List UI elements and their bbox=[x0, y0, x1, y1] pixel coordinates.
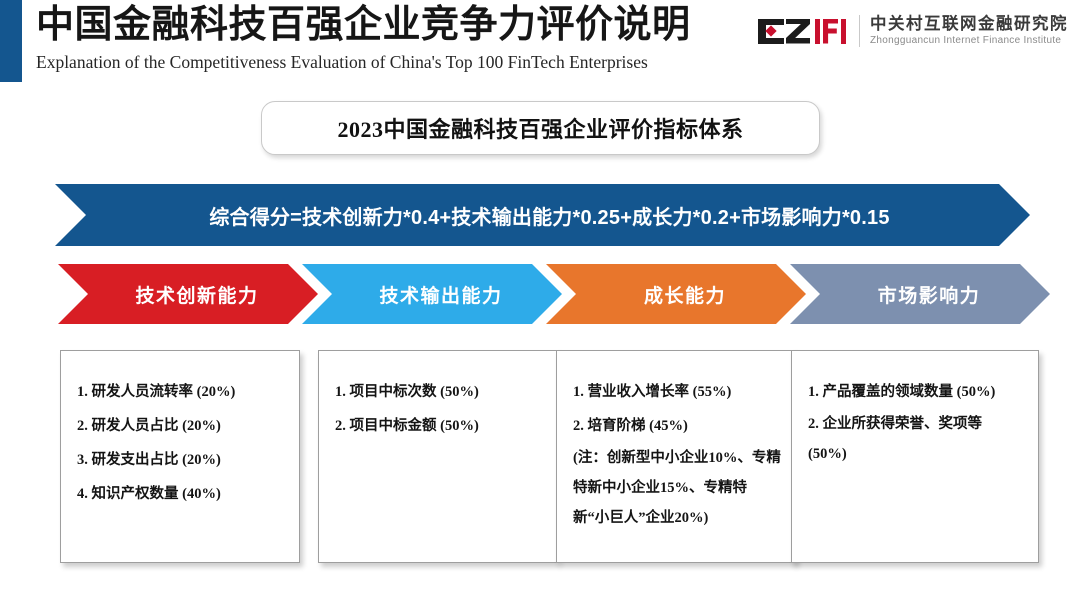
dimension-chevron-market-influence[interactable]: 市场影响力 bbox=[790, 264, 1050, 324]
logo-diamond-icon bbox=[765, 25, 776, 36]
indicator-card-market-influence: 1. 产品覆盖的领域数量 (50%) 2. 企业所获得荣誉、奖项等 (50%) bbox=[791, 350, 1039, 563]
dimension-chevron-technology-innovation[interactable]: 技术创新能力 bbox=[58, 264, 318, 324]
logo-letter-i2-icon bbox=[841, 19, 846, 44]
indicator-system-title: 2023中国金融科技百强企业评价指标体系 bbox=[337, 112, 743, 144]
indicator-card-technology-innovation: 1. 研发人员流转率 (20%) 2. 研发人员占比 (20%) 3. 研发支出… bbox=[60, 350, 300, 563]
indicator-card-growth: 1. 营业收入增长率 (55%) 2. 培育阶梯 (45%) (注：创新型中小企… bbox=[556, 350, 796, 563]
header-accent-bar bbox=[0, 0, 22, 82]
page-title-cn: 中国金融科技百强企业竞争力评价说明 bbox=[36, 2, 691, 48]
indicator-item: 3. 研发支出占比 (20%) bbox=[77, 443, 285, 477]
dimension-label-3: 成长能力 bbox=[626, 281, 726, 308]
dimension-chevron-row: 技术创新能力 技术输出能力 成长能力 市场影响力 bbox=[0, 264, 1080, 324]
indicator-item: 1. 项目中标次数 (50%) bbox=[335, 375, 543, 409]
indicator-item: 2. 项目中标金额 (50%) bbox=[335, 409, 543, 443]
indicator-card-technology-output: 1. 项目中标次数 (50%) 2. 项目中标金额 (50%) bbox=[318, 350, 558, 563]
logo-letter-c-icon bbox=[758, 19, 784, 44]
logo-name-cn: 中关村互联网金融研究院 bbox=[870, 14, 1068, 34]
logo-letter-i-icon bbox=[815, 19, 820, 44]
score-formula-banner: 综合得分=技术创新力*0.4+技术输出能力*0.25+成长力*0.2+市场影响力… bbox=[55, 184, 1030, 246]
indicator-item: 2. 研发人员占比 (20%) bbox=[77, 409, 285, 443]
indicator-item: 2. 培育阶梯 (45%) bbox=[573, 409, 781, 443]
indicator-system-title-box: 2023中国金融科技百强企业评价指标体系 bbox=[261, 101, 820, 155]
logo-name-en: Zhongguancun Internet Finance Institute bbox=[870, 34, 1068, 48]
dimension-label-1: 技术创新能力 bbox=[117, 281, 258, 308]
page-title-en: Explanation of the Competitiveness Evalu… bbox=[36, 50, 691, 74]
dimension-label-4: 市场影响力 bbox=[860, 281, 981, 308]
czifi-logo-mark-icon bbox=[758, 18, 849, 44]
page-header: 中国金融科技百强企业竞争力评价说明 Explanation of the Com… bbox=[0, 0, 1080, 90]
indicator-item: 1. 产品覆盖的领域数量 (50%) bbox=[808, 375, 1024, 409]
dimension-chevron-technology-output[interactable]: 技术输出能力 bbox=[302, 264, 562, 324]
czifi-logo: 中关村互联网金融研究院 Zhongguancun Internet Financ… bbox=[758, 11, 1068, 51]
indicator-item: 4. 知识产权数量 (40%) bbox=[77, 477, 285, 511]
logo-letter-f-icon bbox=[823, 19, 838, 44]
logo-wordmark: 中关村互联网金融研究院 Zhongguancun Internet Financ… bbox=[870, 14, 1068, 48]
indicator-item: 1. 营业收入增长率 (55%) bbox=[573, 375, 781, 409]
score-formula-text: 综合得分=技术创新力*0.4+技术输出能力*0.25+成长力*0.2+市场影响力… bbox=[195, 201, 889, 230]
dimension-chevron-growth[interactable]: 成长能力 bbox=[546, 264, 806, 324]
dimension-label-2: 技术输出能力 bbox=[361, 281, 502, 308]
indicator-cards-row: 1. 研发人员流转率 (20%) 2. 研发人员占比 (20%) 3. 研发支出… bbox=[0, 350, 1080, 575]
title-block: 中国金融科技百强企业竞争力评价说明 Explanation of the Com… bbox=[36, 2, 691, 74]
logo-divider bbox=[859, 15, 860, 47]
logo-letter-z-icon bbox=[786, 19, 810, 44]
indicator-note: (注：创新型中小企业10%、专精特新中小企业15%、专精特新“小巨人”企业20%… bbox=[573, 443, 781, 533]
indicator-item: 1. 研发人员流转率 (20%) bbox=[77, 375, 285, 409]
indicator-item: 2. 企业所获得荣誉、奖项等 (50%) bbox=[808, 409, 1024, 469]
